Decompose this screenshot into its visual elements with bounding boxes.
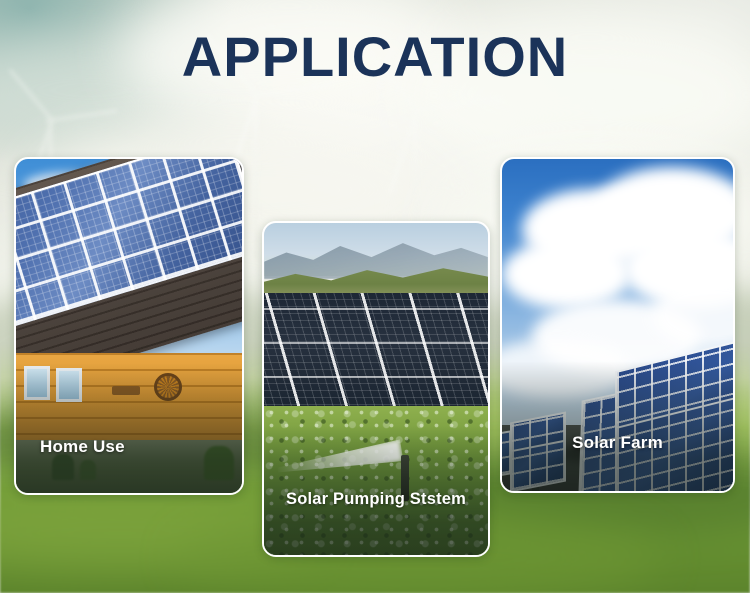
application-card-solar-farm[interactable]: Solar Farm <box>500 157 735 493</box>
page-title: APPLICATION <box>0 28 750 87</box>
card-label-solar-pumping-system: Solar Pumping Ststem <box>264 490 488 525</box>
application-card-home-use[interactable]: Home Use <box>14 157 244 495</box>
label-scrim <box>16 363 242 493</box>
rooftop-solar-panel-array <box>16 159 242 341</box>
label-scrim <box>502 361 733 491</box>
card-label-home-use: Home Use <box>16 437 242 473</box>
application-banner: APPLICATION Home Use <box>0 0 750 593</box>
solar-panel-array <box>264 293 488 413</box>
application-card-solar-pumping-system[interactable]: Solar Pumping Ststem <box>262 221 490 557</box>
card-label-solar-farm: Solar Farm <box>502 433 733 469</box>
turbine-mast <box>253 95 258 260</box>
